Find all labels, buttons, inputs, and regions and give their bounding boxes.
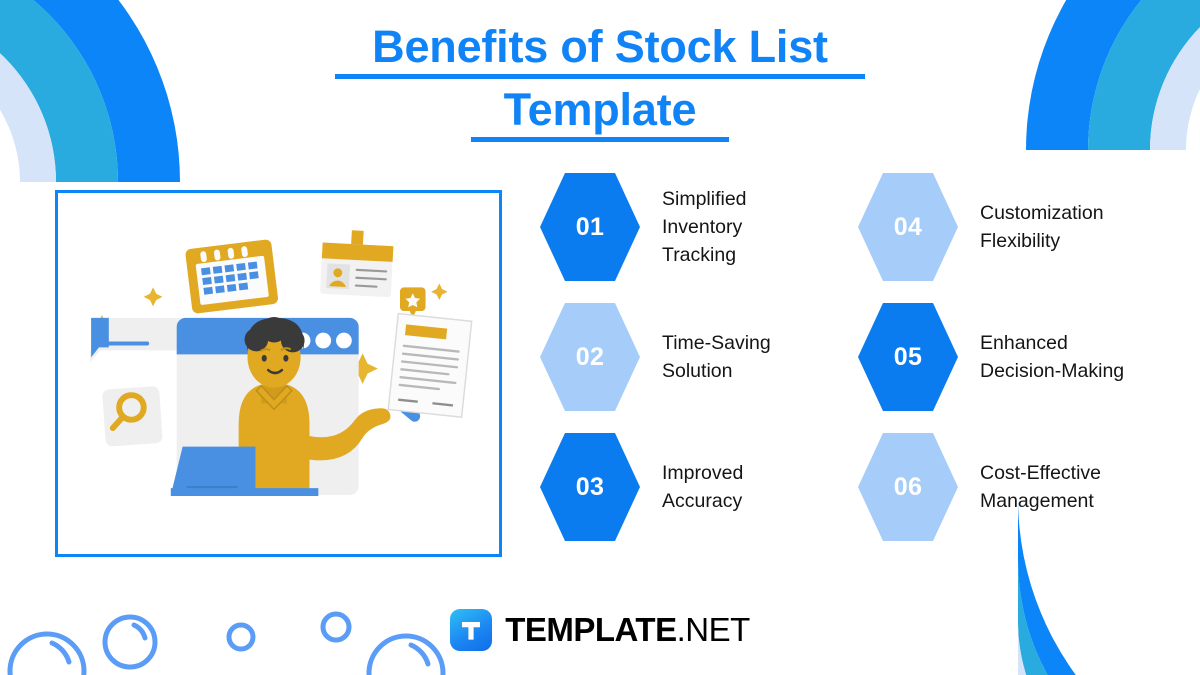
- page-title: Benefits of Stock List Template: [0, 16, 1200, 142]
- benefits-list: 01 Simplified Inventory Tracking 02 Time…: [540, 172, 1200, 562]
- benefit-number-05: 05: [894, 343, 922, 372]
- template-net-logo-icon: [450, 609, 492, 651]
- illustration-frame: [55, 190, 502, 557]
- magnifier-icon: [102, 386, 163, 447]
- title-line-1: Benefits of Stock List: [372, 16, 828, 79]
- benefit-item-06[interactable]: 06 Cost-Effective Management: [858, 432, 1101, 542]
- benefit-item-01[interactable]: 01 Simplified Inventory Tracking: [540, 172, 747, 282]
- benefit-item-02[interactable]: 02 Time-Saving Solution: [540, 302, 771, 412]
- benefit-number-02: 02: [576, 343, 604, 372]
- benefit-label-05: Enhanced Decision-Making: [980, 329, 1124, 386]
- hexagon-badge-04: 04: [858, 173, 958, 281]
- hexagon-badge-03: 03: [540, 433, 640, 541]
- benefit-label-06: Cost-Effective Management: [980, 459, 1101, 516]
- brand-name-bold: TEMPLATE: [505, 611, 676, 648]
- document-with-pen-icon: [388, 314, 471, 418]
- benefit-label-04: Customization Flexibility: [980, 199, 1104, 256]
- hexagon-badge-01: 01: [540, 173, 640, 281]
- benefit-label-01: Simplified Inventory Tracking: [662, 185, 747, 270]
- benefit-label-02: Time-Saving Solution: [662, 329, 771, 386]
- benefit-label-03: Improved Accuracy: [662, 459, 743, 516]
- benefit-number-04: 04: [894, 213, 922, 242]
- hexagon-badge-02: 02: [540, 303, 640, 411]
- benefit-item-04[interactable]: 04 Customization Flexibility: [858, 172, 1104, 282]
- id-card-icon: [320, 229, 394, 298]
- hexagon-badge-06: 06: [858, 433, 958, 541]
- slide-canvas: Benefits of Stock List Template: [0, 0, 1200, 675]
- benefit-number-03: 03: [576, 473, 604, 502]
- benefit-number-06: 06: [894, 473, 922, 502]
- brand-name-light: .NET: [677, 611, 750, 648]
- brand-name: TEMPLATE.NET: [505, 611, 750, 649]
- benefit-item-03[interactable]: 03 Improved Accuracy: [540, 432, 743, 542]
- benefit-item-05[interactable]: 05 Enhanced Decision-Making: [858, 302, 1124, 412]
- calendar-icon: [185, 239, 279, 314]
- hexagon-badge-05: 05: [858, 303, 958, 411]
- brand-logo[interactable]: TEMPLATE.NET: [0, 609, 1200, 651]
- benefit-number-01: 01: [576, 213, 604, 242]
- title-line-2: Template: [372, 79, 828, 142]
- star-badge-icon: [400, 287, 426, 317]
- chat-bubble-icon: [90, 318, 184, 362]
- illustration-person-at-desk: [58, 193, 499, 554]
